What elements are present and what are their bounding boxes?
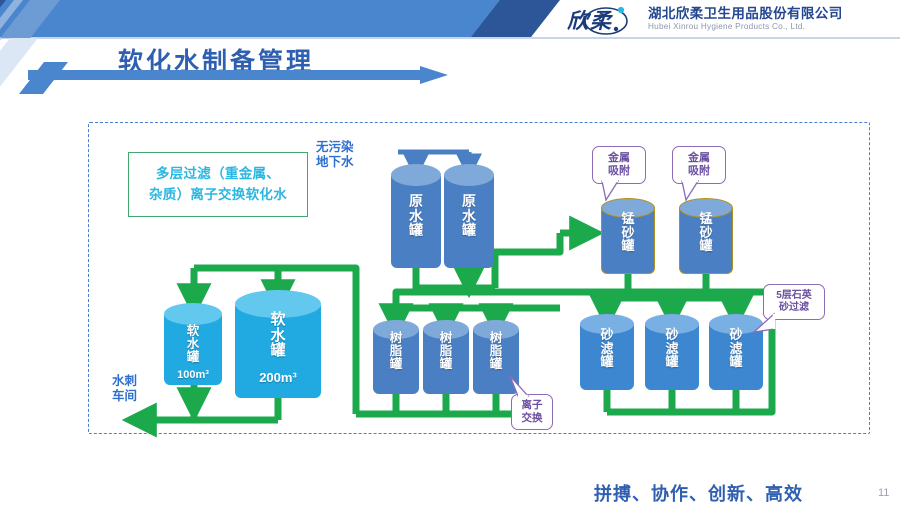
company-name-block: 湖北欣柔卫生用品股份有限公司 Hubei Xinrou Hygiene Prod… — [648, 7, 843, 32]
soft-water-tank-100[interactable]: 软水罐 100m³ — [164, 303, 222, 385]
callout-text: 离子交换 — [522, 399, 543, 424]
tank-label: 树脂罐 — [423, 332, 469, 371]
tank-label: 砂滤罐 — [645, 328, 699, 369]
tank-label: 砂滤罐 — [709, 328, 763, 369]
resin-tank-2[interactable]: 树脂罐 — [423, 320, 469, 394]
spunlace-workshop-label: 水刺车间 — [112, 374, 137, 405]
callout-text: 金属吸附 — [688, 152, 710, 178]
tank-capacity: 200m³ — [235, 370, 321, 385]
raw-water-tank-1[interactable]: 原水罐 — [391, 164, 441, 268]
tank-label: 原水罐 — [391, 194, 441, 238]
tank-label: 锰砂罐 — [679, 212, 733, 253]
deco-stripe-5 — [0, 38, 2, 94]
company-logo-block: 欣 柔 湖北欣柔卫生用品股份有限公司 Hubei Xinrou Hygiene … — [566, 1, 900, 38]
tank-label: 软水罐 — [164, 325, 222, 364]
tank-label: 原水罐 — [444, 194, 494, 238]
callout-ion-exchange: 离子交换 — [511, 394, 553, 430]
callout-tail-4 — [506, 374, 530, 398]
sand-filter-tank-2[interactable]: 砂滤罐 — [645, 314, 699, 390]
callout-text: 金属吸附 — [608, 152, 630, 178]
soft-water-tank-200[interactable]: 软水罐 200m³ — [235, 290, 321, 398]
groundwater-source-label: 无污染地下水 — [316, 140, 354, 171]
tank-label: 锰砂罐 — [601, 212, 655, 253]
tank-capacity: 100m³ — [164, 369, 222, 381]
callout-metal-adsorption-2: 金属吸附 — [672, 146, 726, 184]
tank-top — [391, 164, 441, 186]
process-note-text: 多层过滤（重金属、杂质）离子交换软化水 — [149, 164, 287, 205]
raw-water-tank-2[interactable]: 原水罐 — [444, 164, 494, 268]
company-name-en: Hubei Xinrou Hygiene Products Co., Ltd. — [648, 23, 843, 32]
footer-slogan: 拼搏、协作、创新、高效 — [594, 480, 803, 506]
resin-tank-1[interactable]: 树脂罐 — [373, 320, 419, 394]
company-name-cn: 湖北欣柔卫生用品股份有限公司 — [648, 7, 843, 21]
tank-label: 软水罐 — [235, 312, 321, 359]
svg-text:柔: 柔 — [590, 9, 614, 33]
process-note-box: 多层过滤（重金属、杂质）离子交换软化水 — [128, 152, 308, 217]
manganese-sand-tank-2[interactable]: 锰砂罐 — [679, 198, 733, 274]
tank-label: 树脂罐 — [473, 332, 519, 371]
callout-tail-1 — [600, 180, 626, 202]
slide-canvas: 欣 柔 湖北欣柔卫生用品股份有限公司 Hubei Xinrou Hygiene … — [0, 0, 900, 510]
page-number: 11 — [878, 487, 889, 499]
tank-label: 树脂罐 — [373, 332, 419, 371]
tank-top — [444, 164, 494, 186]
title-arrow — [28, 66, 448, 84]
tank-top — [164, 303, 222, 325]
tank-label: 砂滤罐 — [580, 328, 634, 369]
manganese-sand-tank-1[interactable]: 锰砂罐 — [601, 198, 655, 274]
callout-text: 5层石英砂过滤 — [776, 290, 812, 314]
sand-filter-tank-1[interactable]: 砂滤罐 — [580, 314, 634, 390]
callout-tail-2 — [680, 180, 706, 202]
xinrou-brush-logo-icon: 欣 柔 — [566, 5, 642, 35]
svg-text:欣: 欣 — [567, 9, 592, 33]
callout-metal-adsorption-1: 金属吸附 — [592, 146, 646, 184]
